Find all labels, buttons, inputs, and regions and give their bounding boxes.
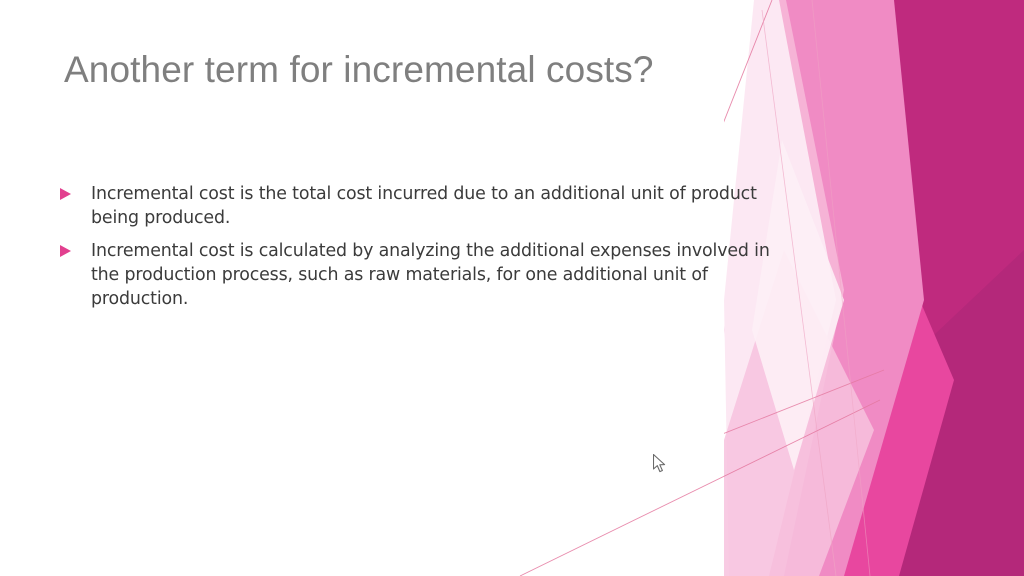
list-item-text: Incremental cost is calculated by analyz…: [91, 239, 772, 311]
triangle-bullet-icon: [60, 182, 91, 200]
decor-hairline-c: [762, 10, 836, 576]
mouse-pointer: [653, 454, 667, 474]
decor-shape-deep-magenta-right: [874, 0, 1024, 576]
list-item-text: Incremental cost is the total cost incur…: [91, 182, 772, 230]
slide-title: Another term for incremental costs?: [64, 48, 764, 92]
decor-shape-hot-pink: [794, 170, 954, 576]
decor-shape-magenta-lower: [844, 250, 1024, 576]
triangle-bullet-icon: [60, 239, 91, 257]
slide-body: Incremental cost is the total cost incur…: [60, 182, 772, 320]
list-item: Incremental cost is calculated by analyz…: [60, 239, 772, 311]
decor-hairline-b: [724, 370, 884, 576]
decor-hairline-long-upper: [812, 0, 870, 576]
slide-canvas: Another term for incremental costs? Incr…: [0, 0, 1024, 576]
list-item: Incremental cost is the total cost incur…: [60, 182, 772, 230]
decor-hairline-long-bottom: [520, 400, 880, 576]
